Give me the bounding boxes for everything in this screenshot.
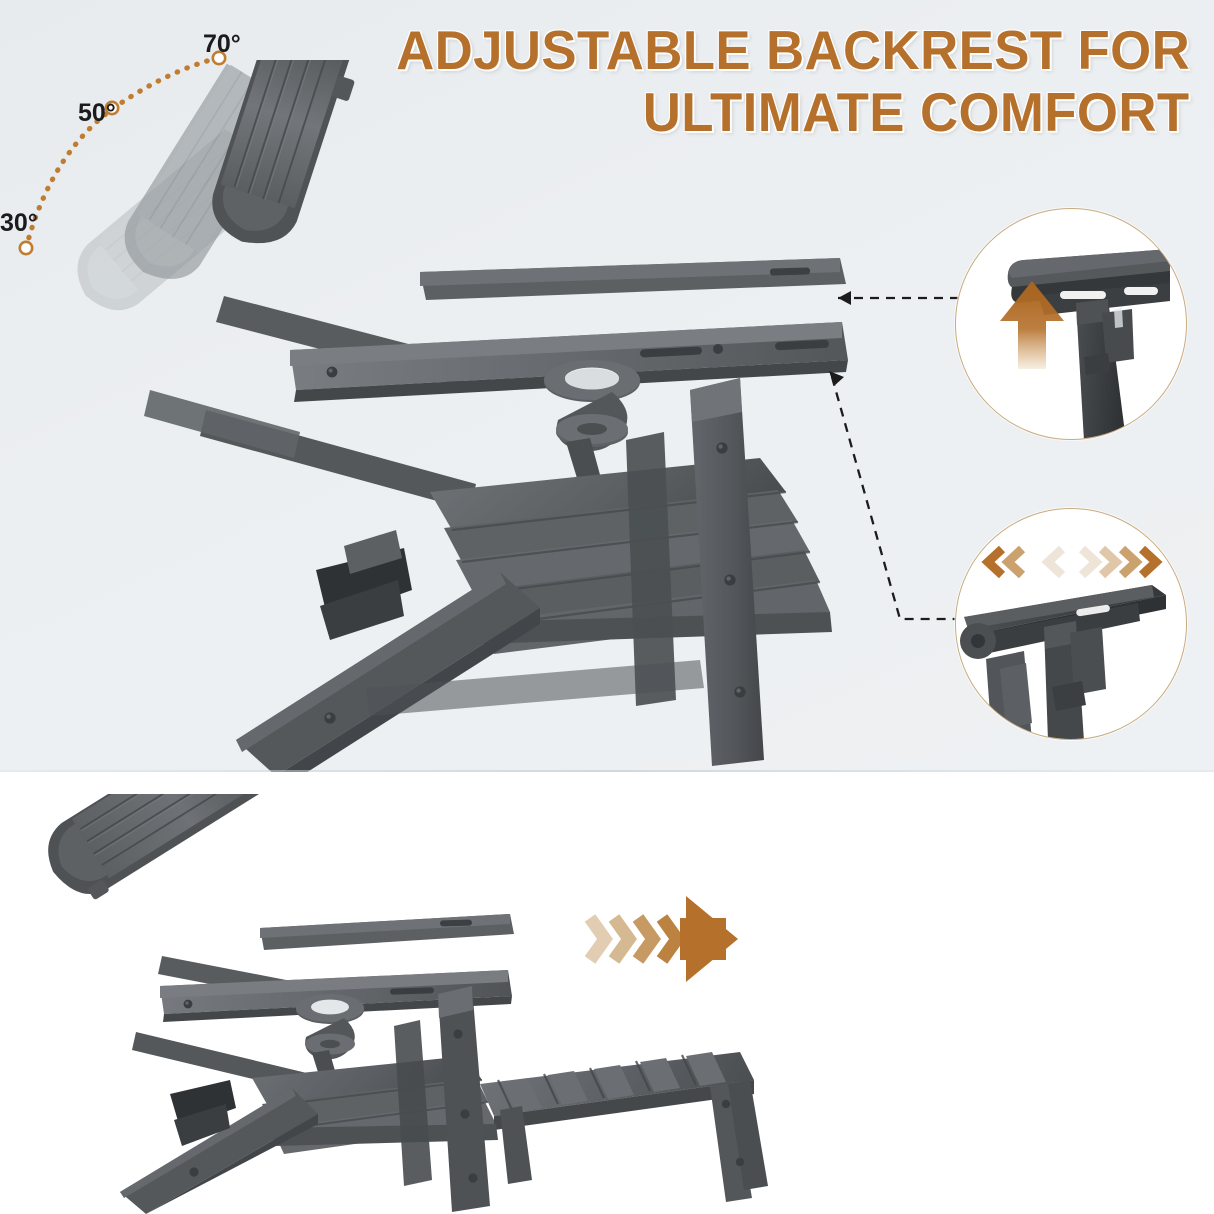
angle-label-70: 70° xyxy=(203,30,241,59)
ottoman-extend-arrow-icon xyxy=(580,884,790,994)
page-title-line-2: ULTIMATE COMFORT xyxy=(643,84,1190,140)
chevrons-left-icon xyxy=(988,549,1062,575)
chevrons-right-icon xyxy=(1082,549,1156,575)
angle-node-30 xyxy=(20,242,32,254)
recline-angle-arc xyxy=(0,0,300,300)
adjustable-backrest-section: 70° 50° 30° ADJUSTABLE BACKREST FOR ULTI… xyxy=(0,0,1214,772)
callout-armrest-lift xyxy=(955,208,1187,440)
cup-holder xyxy=(544,360,640,488)
connector-line-armrest-lift xyxy=(820,278,970,322)
ottoman-extension xyxy=(480,1052,768,1202)
retractable-ottoman-section: RETRACTABLE OTTOMAN Stretch Your Legs fo… xyxy=(0,772,1214,1214)
page-title-line-1: ADJUSTABLE BACKREST FOR xyxy=(396,22,1190,78)
arrowhead-left-icon xyxy=(838,291,851,305)
ottoman-chair-illustration xyxy=(10,794,800,1214)
angle-label-30: 30° xyxy=(0,209,38,238)
angle-label-50: 50° xyxy=(78,99,116,128)
callout-armrest-slide xyxy=(955,508,1187,740)
